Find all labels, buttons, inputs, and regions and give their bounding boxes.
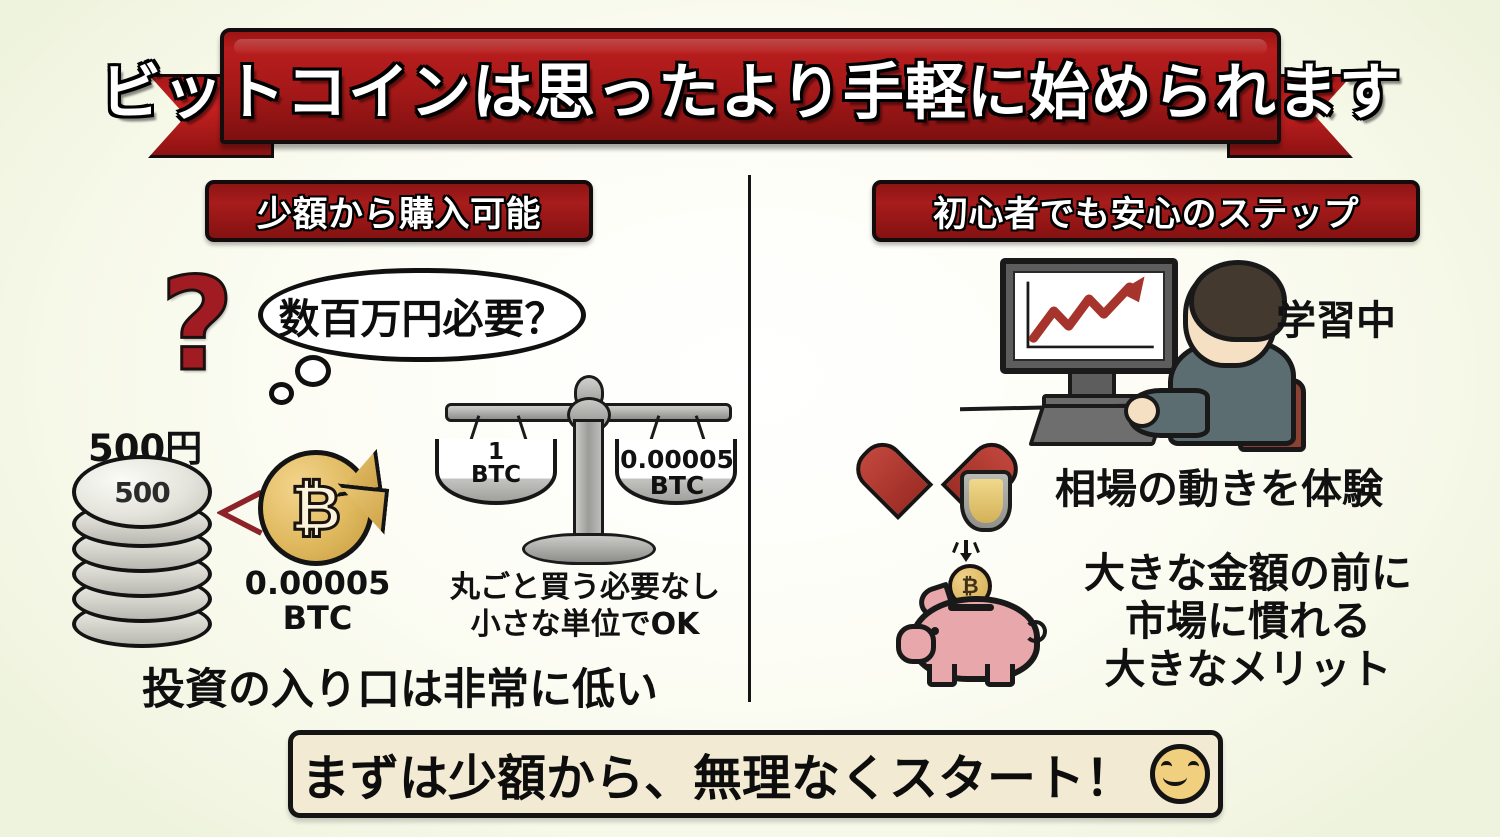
bottom-call-to-action-banner: まずは少額から、無理なくスタート！	[288, 730, 1223, 818]
main-title: ビットコインは思ったより手軽に始められます	[100, 42, 1401, 131]
benefit-line-1: 大きな金額の前に	[1048, 550, 1448, 598]
person-hair	[1189, 260, 1287, 342]
section-badge-left-label: 少額から購入可能	[257, 186, 541, 237]
top-ribbon-banner: ビットコインは思ったより手軽に始められます	[148, 28, 1353, 153]
yen-coin-stack-icon: 500	[72, 455, 204, 640]
ribbon-body: ビットコインは思ったより手軽に始められます	[220, 28, 1281, 144]
bitcoin-symbol: ₿	[291, 477, 342, 539]
shield-inner	[969, 479, 1003, 523]
scale-pan-right-line1: 0.00005	[603, 447, 751, 473]
vertical-divider	[748, 175, 751, 702]
computer-monitor-icon	[1000, 258, 1178, 374]
section-badge-right: 初心者でも安心のステップ	[872, 180, 1420, 242]
yen-coin-top: 500	[72, 455, 212, 529]
smiley-face-icon	[1150, 744, 1210, 804]
bottom-banner-text: まずは少額から、無理なくスタート！	[301, 739, 1134, 810]
scale-post	[573, 419, 604, 547]
scale-base	[522, 533, 656, 565]
monitor-screen	[1013, 271, 1165, 361]
scale-pan-left-line2: BTC	[471, 464, 521, 487]
scale-pan-left: 1 BTC	[435, 439, 557, 505]
learning-label: 学習中	[1276, 288, 1396, 346]
scale-pan-left-line1: 1	[471, 441, 521, 464]
piggy-leg-front	[927, 664, 957, 687]
section-badge-right-label: 初心者でも安心のステップ	[933, 186, 1359, 237]
rising-chart-icon	[1015, 273, 1163, 359]
bitcoin-amount-line2: BTC	[230, 601, 405, 636]
piggy-tail	[1024, 620, 1047, 643]
scale-pan-right-line2: BTC	[603, 473, 751, 499]
person-hand	[1124, 394, 1160, 428]
yen-coin-value: 500	[114, 476, 169, 509]
thought-bubble-text: 数百万円必要？	[279, 285, 566, 345]
scale-pan-right-label: 0.00005 BTC	[603, 447, 751, 500]
benefit-line-3: 大きなメリット	[1048, 646, 1448, 694]
scale-caption-line1: 丸ごと買う必要なし	[422, 570, 748, 607]
balance-scale-icon: 1 BTC 0.00005 BTC	[443, 375, 728, 570]
thought-bubble: 数百万円必要？	[258, 268, 586, 362]
piggy-leg-back	[985, 664, 1015, 687]
piggy-snout	[896, 624, 936, 664]
right-section-benefits: 大きな金額の前に 市場に慣れる 大きなメリット	[1048, 550, 1448, 694]
bitcoin-amount-line1: 0.00005	[230, 566, 405, 601]
infographic-canvas: ビットコインは思ったより手軽に始められます 少額から購入可能 初心者でも安心のス…	[0, 0, 1500, 837]
left-section-footer: 投資の入り口は非常に低い	[120, 655, 680, 717]
scale-pan-left-label: 1 BTC	[471, 441, 521, 488]
down-arrow-icon	[953, 540, 979, 562]
bitcoin-coin-icon: ₿	[258, 450, 374, 566]
piggy-eye	[931, 627, 939, 635]
piggy-slot	[948, 604, 994, 611]
bitcoin-amount-label: 0.00005 BTC	[230, 566, 405, 635]
shield-icon	[960, 470, 1012, 532]
scale-caption: 丸ごと買う必要なし 小さな単位でOK	[422, 570, 748, 643]
scale-caption-line2: 小さな単位でOK	[422, 607, 748, 644]
question-mark-icon: ?	[160, 262, 234, 390]
benefit-line-2: 市場に慣れる	[1048, 598, 1448, 646]
section-badge-left: 少額から購入可能	[205, 180, 593, 242]
market-experience-text: 相場の動きを体験	[1055, 455, 1383, 515]
